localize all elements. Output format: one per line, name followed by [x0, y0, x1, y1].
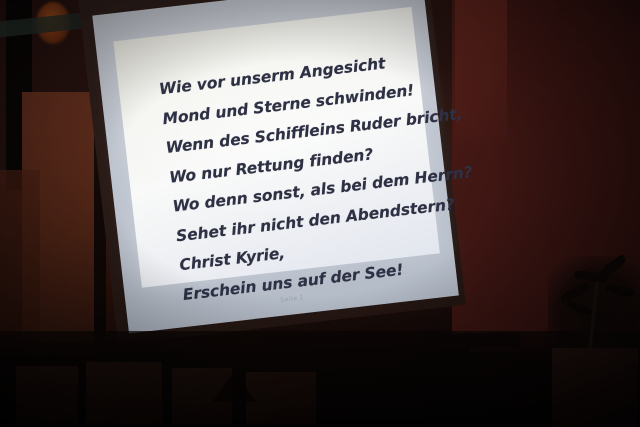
foreground-object — [86, 362, 162, 424]
plant-pot — [552, 348, 638, 427]
wall-right-highlight — [455, 0, 507, 150]
photo-scene: Wie vor unserm Angesicht Mond und Sterne… — [0, 0, 640, 427]
foreground-object — [16, 366, 78, 424]
slide-verse-block: Wie vor unserm Angesicht Mond und Sterne… — [158, 54, 428, 316]
projection-screen: Wie vor unserm Angesicht Mond und Sterne… — [78, 0, 466, 345]
foreground-triangular-object — [212, 372, 256, 402]
slide-content-area: Wie vor unserm Angesicht Mond und Sterne… — [113, 7, 440, 288]
screen-surface: Wie vor unserm Angesicht Mond und Sterne… — [92, 0, 459, 334]
foreground-object — [246, 372, 316, 424]
